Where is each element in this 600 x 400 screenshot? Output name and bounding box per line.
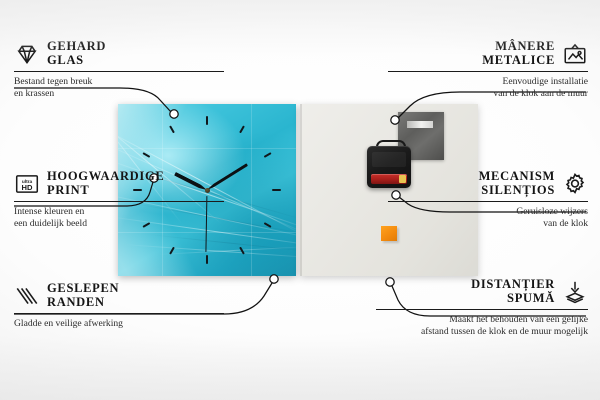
feature-hoogwaardige-print: ultra HD HOOGWAARDIGEPRINT Intense kleur… — [14, 170, 224, 229]
spacer-arrow-icon — [562, 279, 588, 305]
divider — [14, 201, 224, 202]
feature-header: GEHARDGLAS — [14, 40, 224, 67]
feature-subtitle: Eenvoudige installatievan de klok aan de… — [388, 76, 588, 99]
diagonal-lines-icon — [14, 283, 40, 309]
feature-distantier-spuma: DISTANȚIERSPUMĂ Maakt het behouden van e… — [376, 278, 588, 337]
divider — [14, 313, 224, 314]
feature-gehard-glas: GEHARDGLAS Bestand tegen breuken krassen — [14, 40, 224, 99]
feature-mecanism-silentios: MECANISMSILENȚIOS Geruisloze wijzersvan … — [388, 170, 588, 229]
feature-title: HOOGWAARDIGEPRINT — [47, 170, 164, 197]
infographic-canvas: GEHARDGLAS Bestand tegen breuken krassen… — [0, 0, 600, 400]
feature-header: MÂNEREMETALICE — [388, 40, 588, 67]
feature-header: DISTANȚIERSPUMĂ — [376, 278, 588, 305]
gear-icon — [562, 171, 588, 197]
clock-tick — [272, 189, 281, 191]
feature-subtitle: Intense kleuren eneen duidelijk beeld — [14, 206, 224, 229]
feature-title: DISTANȚIERSPUMĂ — [471, 278, 555, 305]
clock-tick — [206, 116, 208, 125]
divider — [388, 71, 588, 72]
feature-header: GESLEPENRANDEN — [14, 282, 224, 309]
feature-header: ultra HD HOOGWAARDIGEPRINT — [14, 170, 224, 197]
diamond-icon — [14, 41, 40, 67]
feature-subtitle: Geruisloze wijzersvan de klok — [388, 206, 588, 229]
feature-title: GEHARDGLAS — [47, 40, 106, 67]
divider — [14, 71, 224, 72]
feature-title: GESLEPENRANDEN — [47, 282, 119, 309]
feature-geslepen-randen: GESLEPENRANDEN Gladde en veilige afwerki… — [14, 282, 224, 330]
feature-subtitle: Bestand tegen breuken krassen — [14, 76, 224, 99]
divider — [388, 201, 588, 202]
clock-tick — [206, 255, 208, 264]
picture-frame-icon — [562, 41, 588, 67]
ultra-hd-icon: ultra HD — [14, 171, 40, 197]
svg-text:HD: HD — [22, 182, 33, 191]
feature-title: MECANISMSILENȚIOS — [479, 170, 555, 197]
feature-title: MÂNEREMETALICE — [482, 40, 555, 67]
divider — [376, 309, 588, 310]
feature-subtitle: Gladde en veilige afwerking — [14, 318, 224, 329]
feature-manere-metalice: MÂNEREMETALICE Eenvoudige installatievan… — [388, 40, 588, 99]
feature-header: MECANISMSILENȚIOS — [388, 170, 588, 197]
feature-subtitle: Maakt het behouden van een gelijkeafstan… — [376, 314, 588, 337]
